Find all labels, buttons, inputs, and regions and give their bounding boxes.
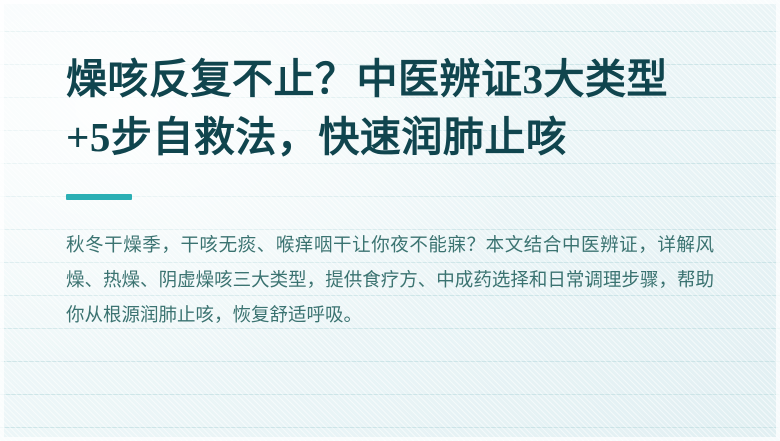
- article-cover-card: 燥咳反复不止？中医辨证3大类型 +5步自救法，快速润肺止咳 秋冬干燥季，干咳无痰…: [0, 0, 780, 441]
- article-summary: 秋冬干燥季，干咳无痰、喉痒咽干让你夜不能寐？本文结合中医辨证，详解风燥、热燥、阴…: [66, 200, 714, 332]
- page-title-line-2: +5步自救法，快速润肺止咳: [66, 108, 706, 166]
- page-title-line-1: 燥咳反复不止？中医辨证3大类型: [66, 50, 706, 108]
- page-title: 燥咳反复不止？中医辨证3大类型 +5步自救法，快速润肺止咳: [66, 0, 706, 166]
- cover-content: 燥咳反复不止？中医辨证3大类型 +5步自救法，快速润肺止咳 秋冬干燥季，干咳无痰…: [0, 0, 780, 332]
